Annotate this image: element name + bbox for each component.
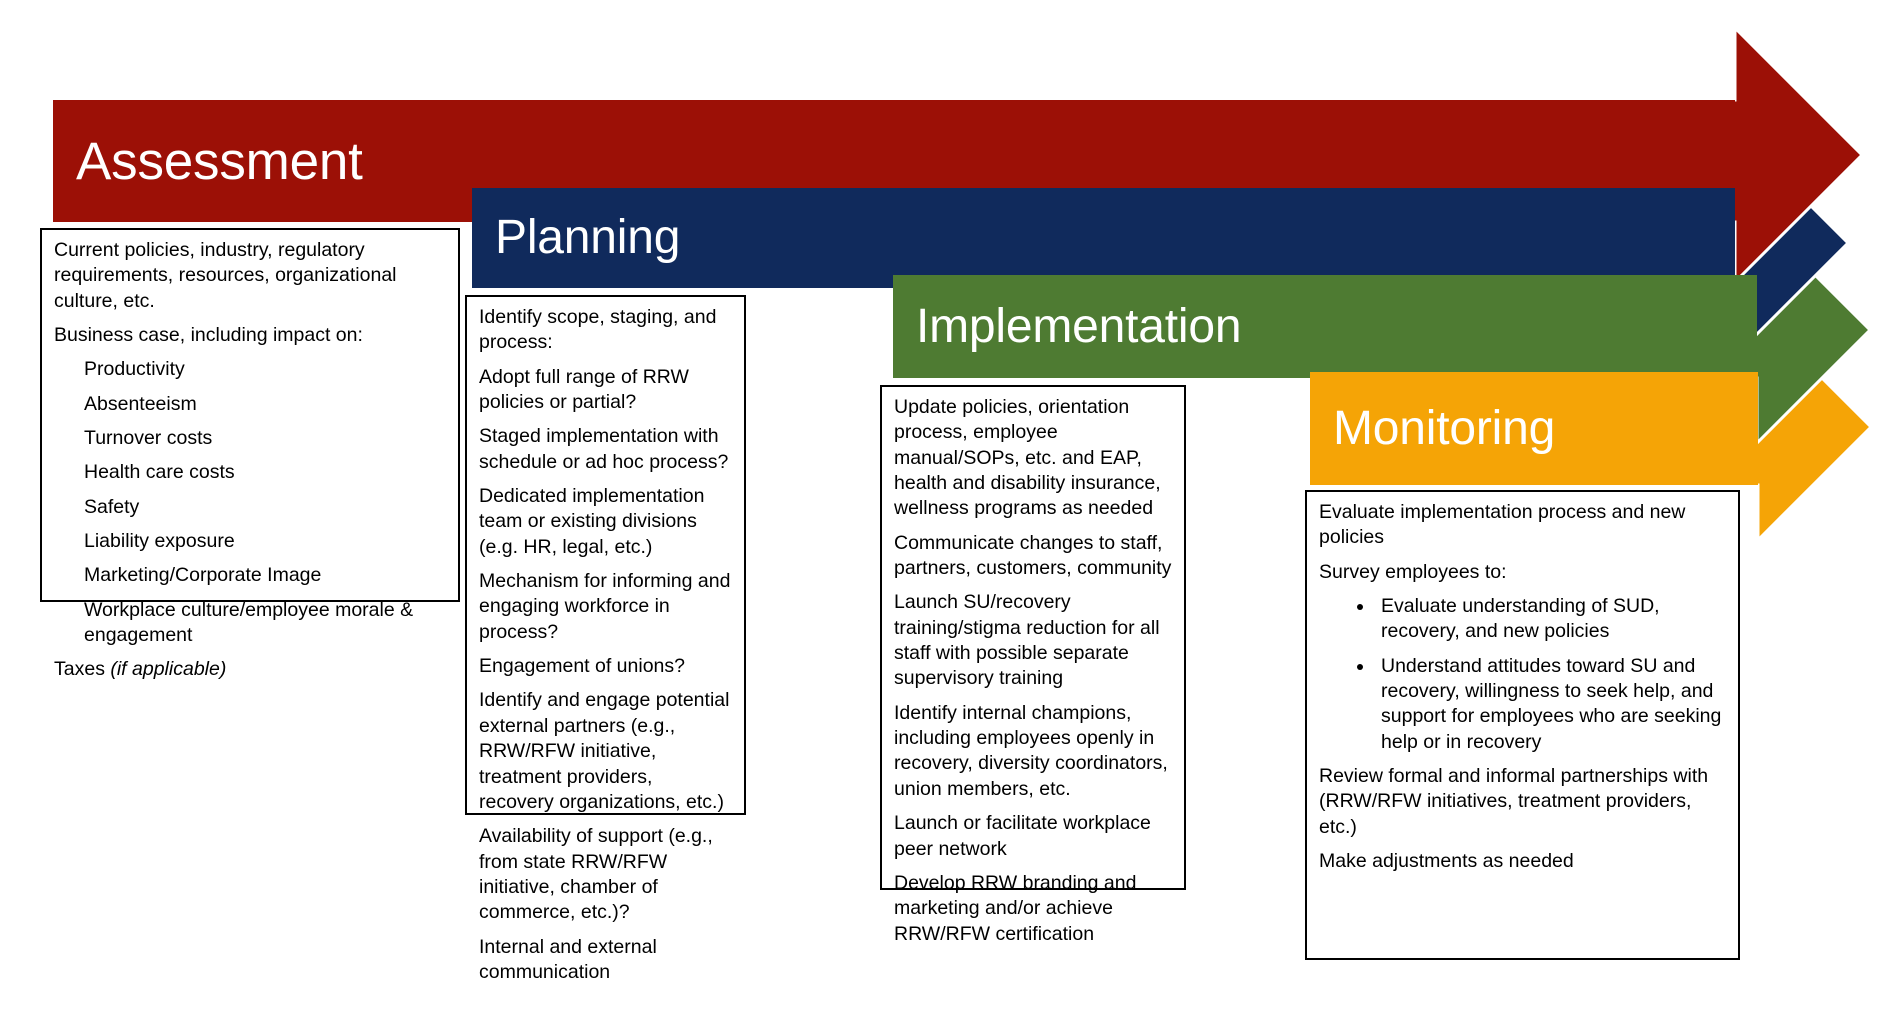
paragraph: Dedicated implementation team or existin… <box>479 484 732 560</box>
content-box-assessment: Current policies, industry, regulatory r… <box>40 228 460 602</box>
indented-line: Productivity <box>84 357 446 382</box>
paragraph: Engagement of unions? <box>479 654 732 679</box>
indented-line: Liability exposure <box>84 529 446 554</box>
paragraph: Identify scope, staging, and process: <box>479 305 732 356</box>
phase-title-assessment: Assessment <box>71 135 363 188</box>
content-box-planning: Identify scope, staging, and process:Ado… <box>465 295 746 815</box>
indented-line: Turnover costs <box>84 426 446 451</box>
paragraph: Mechanism for informing and engaging wor… <box>479 569 732 645</box>
bullet-list: Evaluate understanding of SUD, recovery,… <box>1319 594 1726 755</box>
indented-line: Safety <box>84 495 446 520</box>
indented-line: Marketing/Corporate Image <box>84 563 446 588</box>
phase-title-planning: Planning <box>490 214 680 262</box>
paragraph: Review formal and informal partnerships … <box>1319 764 1726 840</box>
list-item: Evaluate understanding of SUD, recovery,… <box>1375 594 1726 645</box>
paragraph: Identify internal champions, including e… <box>894 701 1172 802</box>
phase-header-planning[interactable]: Planning <box>472 188 1735 288</box>
indented-line: Absenteeism <box>84 392 446 417</box>
content-box-implementation: Update policies, orientation process, em… <box>880 385 1186 890</box>
paragraph: Staged implementation with schedule or a… <box>479 424 732 475</box>
paragraph: Internal and external communication <box>479 935 732 986</box>
indented-line: Health care costs <box>84 460 446 485</box>
indented-line: Workplace culture/employee morale & enga… <box>84 598 446 649</box>
emphasis-text: (if applicable) <box>110 658 226 680</box>
paragraph: Develop RRW branding and marketing and/o… <box>894 871 1172 947</box>
content-box-monitoring: Evaluate implementation process and new … <box>1305 490 1740 960</box>
paragraph: Survey employees to: <box>1319 560 1726 585</box>
paragraph: Make adjustments as needed <box>1319 849 1726 874</box>
paragraph: Taxes (if applicable) <box>54 657 446 682</box>
phase-title-implementation: Implementation <box>911 303 1241 351</box>
paragraph: Current policies, industry, regulatory r… <box>54 238 446 314</box>
paragraph: Identify and engage potential external p… <box>479 688 732 815</box>
phase-header-implementation[interactable]: Implementation <box>893 275 1757 378</box>
list-item: Understand attitudes toward SU and recov… <box>1375 654 1726 755</box>
process-diagram: Assessment Planning Implementation Monit… <box>0 0 1890 1018</box>
paragraph: Launch SU/recovery training/stigma reduc… <box>894 590 1172 691</box>
phase-header-monitoring[interactable]: Monitoring <box>1310 372 1758 485</box>
paragraph: Evaluate implementation process and new … <box>1319 500 1726 551</box>
paragraph: Communicate changes to staff, partners, … <box>894 531 1172 582</box>
paragraph: Availability of support (e.g., from stat… <box>479 824 732 925</box>
paragraph: Business case, including impact on: <box>54 323 446 348</box>
paragraph: Update policies, orientation process, em… <box>894 395 1172 522</box>
phase-title-monitoring: Monitoring <box>1328 405 1555 453</box>
paragraph: Launch or facilitate workplace peer netw… <box>894 811 1172 862</box>
paragraph: Adopt full range of RRW policies or part… <box>479 365 732 416</box>
